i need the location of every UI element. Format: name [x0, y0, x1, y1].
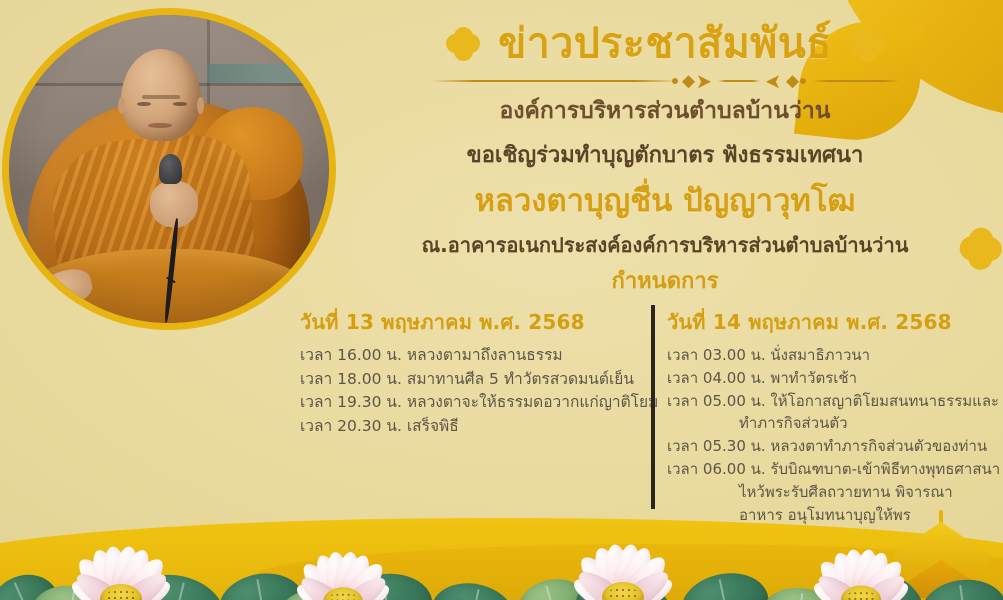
- title-row: ข่าวประชาสัมพันธ์: [345, 18, 985, 69]
- title-divider-ornament: [430, 74, 900, 88]
- list-item: เวลา 20.30 น. เสร็จพิธี: [300, 415, 627, 439]
- column-divider: [651, 305, 655, 509]
- monk-portrait: [2, 8, 336, 330]
- list-item: เวลา 06.00 น. รับบิณฑบาต-เข้าพิธีทางพุทธ…: [667, 458, 990, 481]
- portrait-photo: [9, 15, 329, 323]
- list-item: เวลา 18.00 น. สมาทานศีล 5 ทำวัตรสวดมนต์เ…: [300, 368, 627, 392]
- list-item: เวลา 05.00 น. ให้โอกาสญาติโยมสนทนาธรรมแล…: [667, 390, 990, 413]
- schedule-date-day2: วันที่ 14 พฤษภาคม พ.ศ. 2568: [667, 306, 990, 338]
- organization-name: องค์การบริหารส่วนตำบลบ้านว่าน: [345, 97, 985, 127]
- schedule-column-day2: วันที่ 14 พฤษภาคม พ.ศ. 2568 เวลา 03.00 น…: [645, 306, 990, 526]
- monk-name: หลวงตาบุญชื่น ปัญญาวุทโฒ: [345, 182, 985, 221]
- schedule-list-day2: เวลา 03.00 น. นั่งสมาธิภาวนา เวลา 04.00 …: [667, 344, 990, 526]
- lotus-flower: [284, 527, 402, 600]
- schedule-list-day1: เวลา 16.00 น. หลวงตามาถึงลานธรรม เวลา 18…: [300, 344, 627, 438]
- list-item: ไหว้พระรับศีลถวายทาน พิจารณา: [667, 481, 990, 504]
- invitation-text: ขอเชิญร่วมทำบุญตักบาตร ฟังธรรมเทศนา: [345, 142, 985, 171]
- quatrefoil-icon-left: [446, 27, 480, 61]
- page-title: ข่าวประชาสัมพันธ์: [498, 18, 832, 69]
- schedule-column-day1: วันที่ 13 พฤษภาคม พ.ศ. 2568 เวลา 16.00 น…: [300, 306, 645, 526]
- header-block: ข่าวประชาสัมพันธ์ องค์การบริหารส่วนตำบลบ…: [345, 18, 985, 297]
- lotus-flower: [58, 520, 184, 600]
- lotus-flower: [560, 518, 686, 600]
- list-item: เวลา 05.30 น. หลวงตาทำภารกิจส่วนตัวของท่…: [667, 435, 990, 458]
- poster-canvas: ข่าวประชาสัมพันธ์ องค์การบริหารส่วนตำบลบ…: [0, 0, 1003, 600]
- list-item: เวลา 16.00 น. หลวงตามาถึงลานธรรม: [300, 344, 627, 368]
- schedule-date-day1: วันที่ 13 พฤษภาคม พ.ศ. 2568: [300, 306, 627, 338]
- list-item: เวลา 04.00 น. พาทำวัตรเช้า: [667, 367, 990, 390]
- quatrefoil-icon-right-title: [850, 27, 884, 61]
- list-item: เวลา 03.00 น. นั่งสมาธิภาวนา: [667, 344, 990, 367]
- list-item: ทำภารกิจส่วนตัว: [667, 412, 990, 435]
- list-item: อาหาร อนุโมทนาบุญให้พร: [667, 504, 990, 527]
- lotus-flower: [801, 524, 922, 600]
- venue-text: ณ.อาคารอเนกประสงค์องค์การบริหารส่วนตำบลบ…: [345, 232, 985, 258]
- portrait-ring: [2, 8, 336, 330]
- list-item: เวลา 19.30 น. หลวงตาจะให้ธรรมดอวากแก่ญาต…: [300, 391, 627, 415]
- agenda-label: กำหนดการ: [345, 268, 985, 297]
- schedule-section: วันที่ 13 พฤษภาคม พ.ศ. 2568 เวลา 16.00 น…: [300, 306, 990, 526]
